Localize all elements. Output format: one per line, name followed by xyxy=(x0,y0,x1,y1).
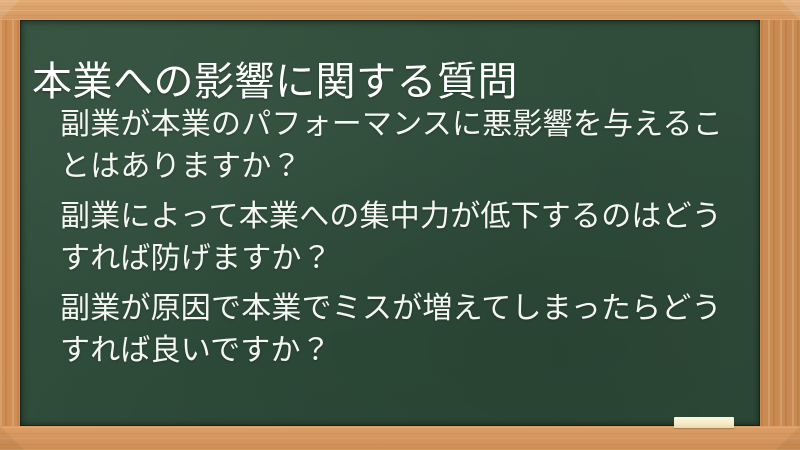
question-list: 副業が本業のパフォーマンスに悪影響を与えることはありますか？ 副業によって本業へ… xyxy=(60,104,742,372)
chalkboard-slide: 本業への影響に関する質問 副業が本業のパフォーマンスに悪影響を与えることはありま… xyxy=(0,0,800,450)
chalkboard-surface: 本業への影響に関する質問 副業が本業のパフォーマンスに悪影響を与えることはありま… xyxy=(20,20,760,426)
wooden-frame-bottom xyxy=(0,426,800,450)
chalk-eraser xyxy=(674,417,734,428)
question-item: 副業が本業のパフォーマンスに悪影響を与えることはありますか？ xyxy=(60,104,742,188)
wooden-frame-top xyxy=(0,0,800,20)
slide-title: 本業への影響に関する質問 xyxy=(32,59,740,106)
question-item: 副業が原因で本業でミスが増えてしまったらどうすれば良いですか？ xyxy=(60,288,742,372)
question-item: 副業によって本業への集中力が低下するのはどうすれば防げますか？ xyxy=(60,196,742,280)
